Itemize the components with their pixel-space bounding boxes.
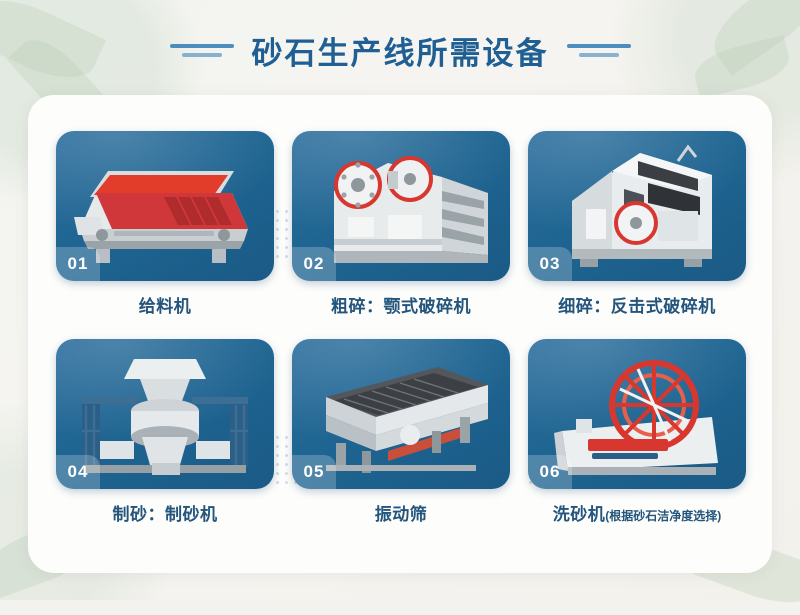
equipment-card[interactable]: 03 bbox=[528, 131, 746, 281]
equipment-caption: 洗砂机(根据砂石洁净度选择) bbox=[528, 500, 746, 525]
equipment-card[interactable]: 05 bbox=[292, 339, 510, 489]
equipment-caption: 振动筛 bbox=[292, 500, 510, 525]
page-title: 砂石生产线所需设备 bbox=[252, 28, 549, 73]
equipment-item-05: 05 振动筛 bbox=[292, 339, 510, 525]
equipment-caption: 制砂：制砂机 bbox=[56, 500, 274, 525]
equipment-number-badge: 06 bbox=[528, 455, 572, 489]
equipment-number-badge: 05 bbox=[292, 455, 336, 489]
equipment-grid: 01 给料机 bbox=[56, 131, 746, 525]
equipment-caption-text: 振动筛 bbox=[375, 505, 428, 524]
page-title-row: 砂石生产线所需设备 bbox=[0, 26, 800, 74]
equipment-card[interactable]: 02 bbox=[292, 131, 510, 281]
equipment-number-badge: 03 bbox=[528, 247, 572, 281]
equipment-item-01: 01 给料机 bbox=[56, 131, 274, 317]
equipment-number-badge: 04 bbox=[56, 455, 100, 489]
title-right-deco-icon bbox=[567, 44, 631, 57]
equipment-caption-text: 洗砂机 bbox=[553, 505, 606, 524]
poster-page: 砂石生产线所需设备 bbox=[0, 0, 800, 600]
equipment-item-06: 06 洗砂机(根据砂石洁净度选择) bbox=[528, 339, 746, 525]
equipment-card[interactable]: 04 bbox=[56, 339, 274, 489]
equipment-item-03: 03 细碎：反击式破碎机 bbox=[528, 131, 746, 317]
equipment-number-badge: 01 bbox=[56, 247, 100, 281]
equipment-card[interactable]: 01 bbox=[56, 131, 274, 281]
equipment-caption-text: 制砂：制砂机 bbox=[113, 505, 218, 524]
equipment-caption-text: 细碎：反击式破碎机 bbox=[558, 297, 716, 316]
equipment-item-04: 04 制砂：制砂机 bbox=[56, 339, 274, 525]
equipment-caption-subtext: (根据砂石洁净度选择) bbox=[605, 509, 721, 523]
equipment-number-badge: 02 bbox=[292, 247, 336, 281]
equipment-card[interactable]: 06 bbox=[528, 339, 746, 489]
title-left-deco-icon bbox=[170, 44, 234, 57]
equipment-caption-text: 给料机 bbox=[139, 297, 192, 316]
equipment-panel: 01 给料机 bbox=[28, 95, 772, 573]
equipment-item-02: 02 粗碎：颚式破碎机 bbox=[292, 131, 510, 317]
equipment-caption: 细碎：反击式破碎机 bbox=[528, 292, 746, 317]
equipment-caption-text: 粗碎：颚式破碎机 bbox=[331, 297, 471, 316]
equipment-caption: 粗碎：颚式破碎机 bbox=[292, 292, 510, 317]
equipment-caption: 给料机 bbox=[56, 292, 274, 317]
